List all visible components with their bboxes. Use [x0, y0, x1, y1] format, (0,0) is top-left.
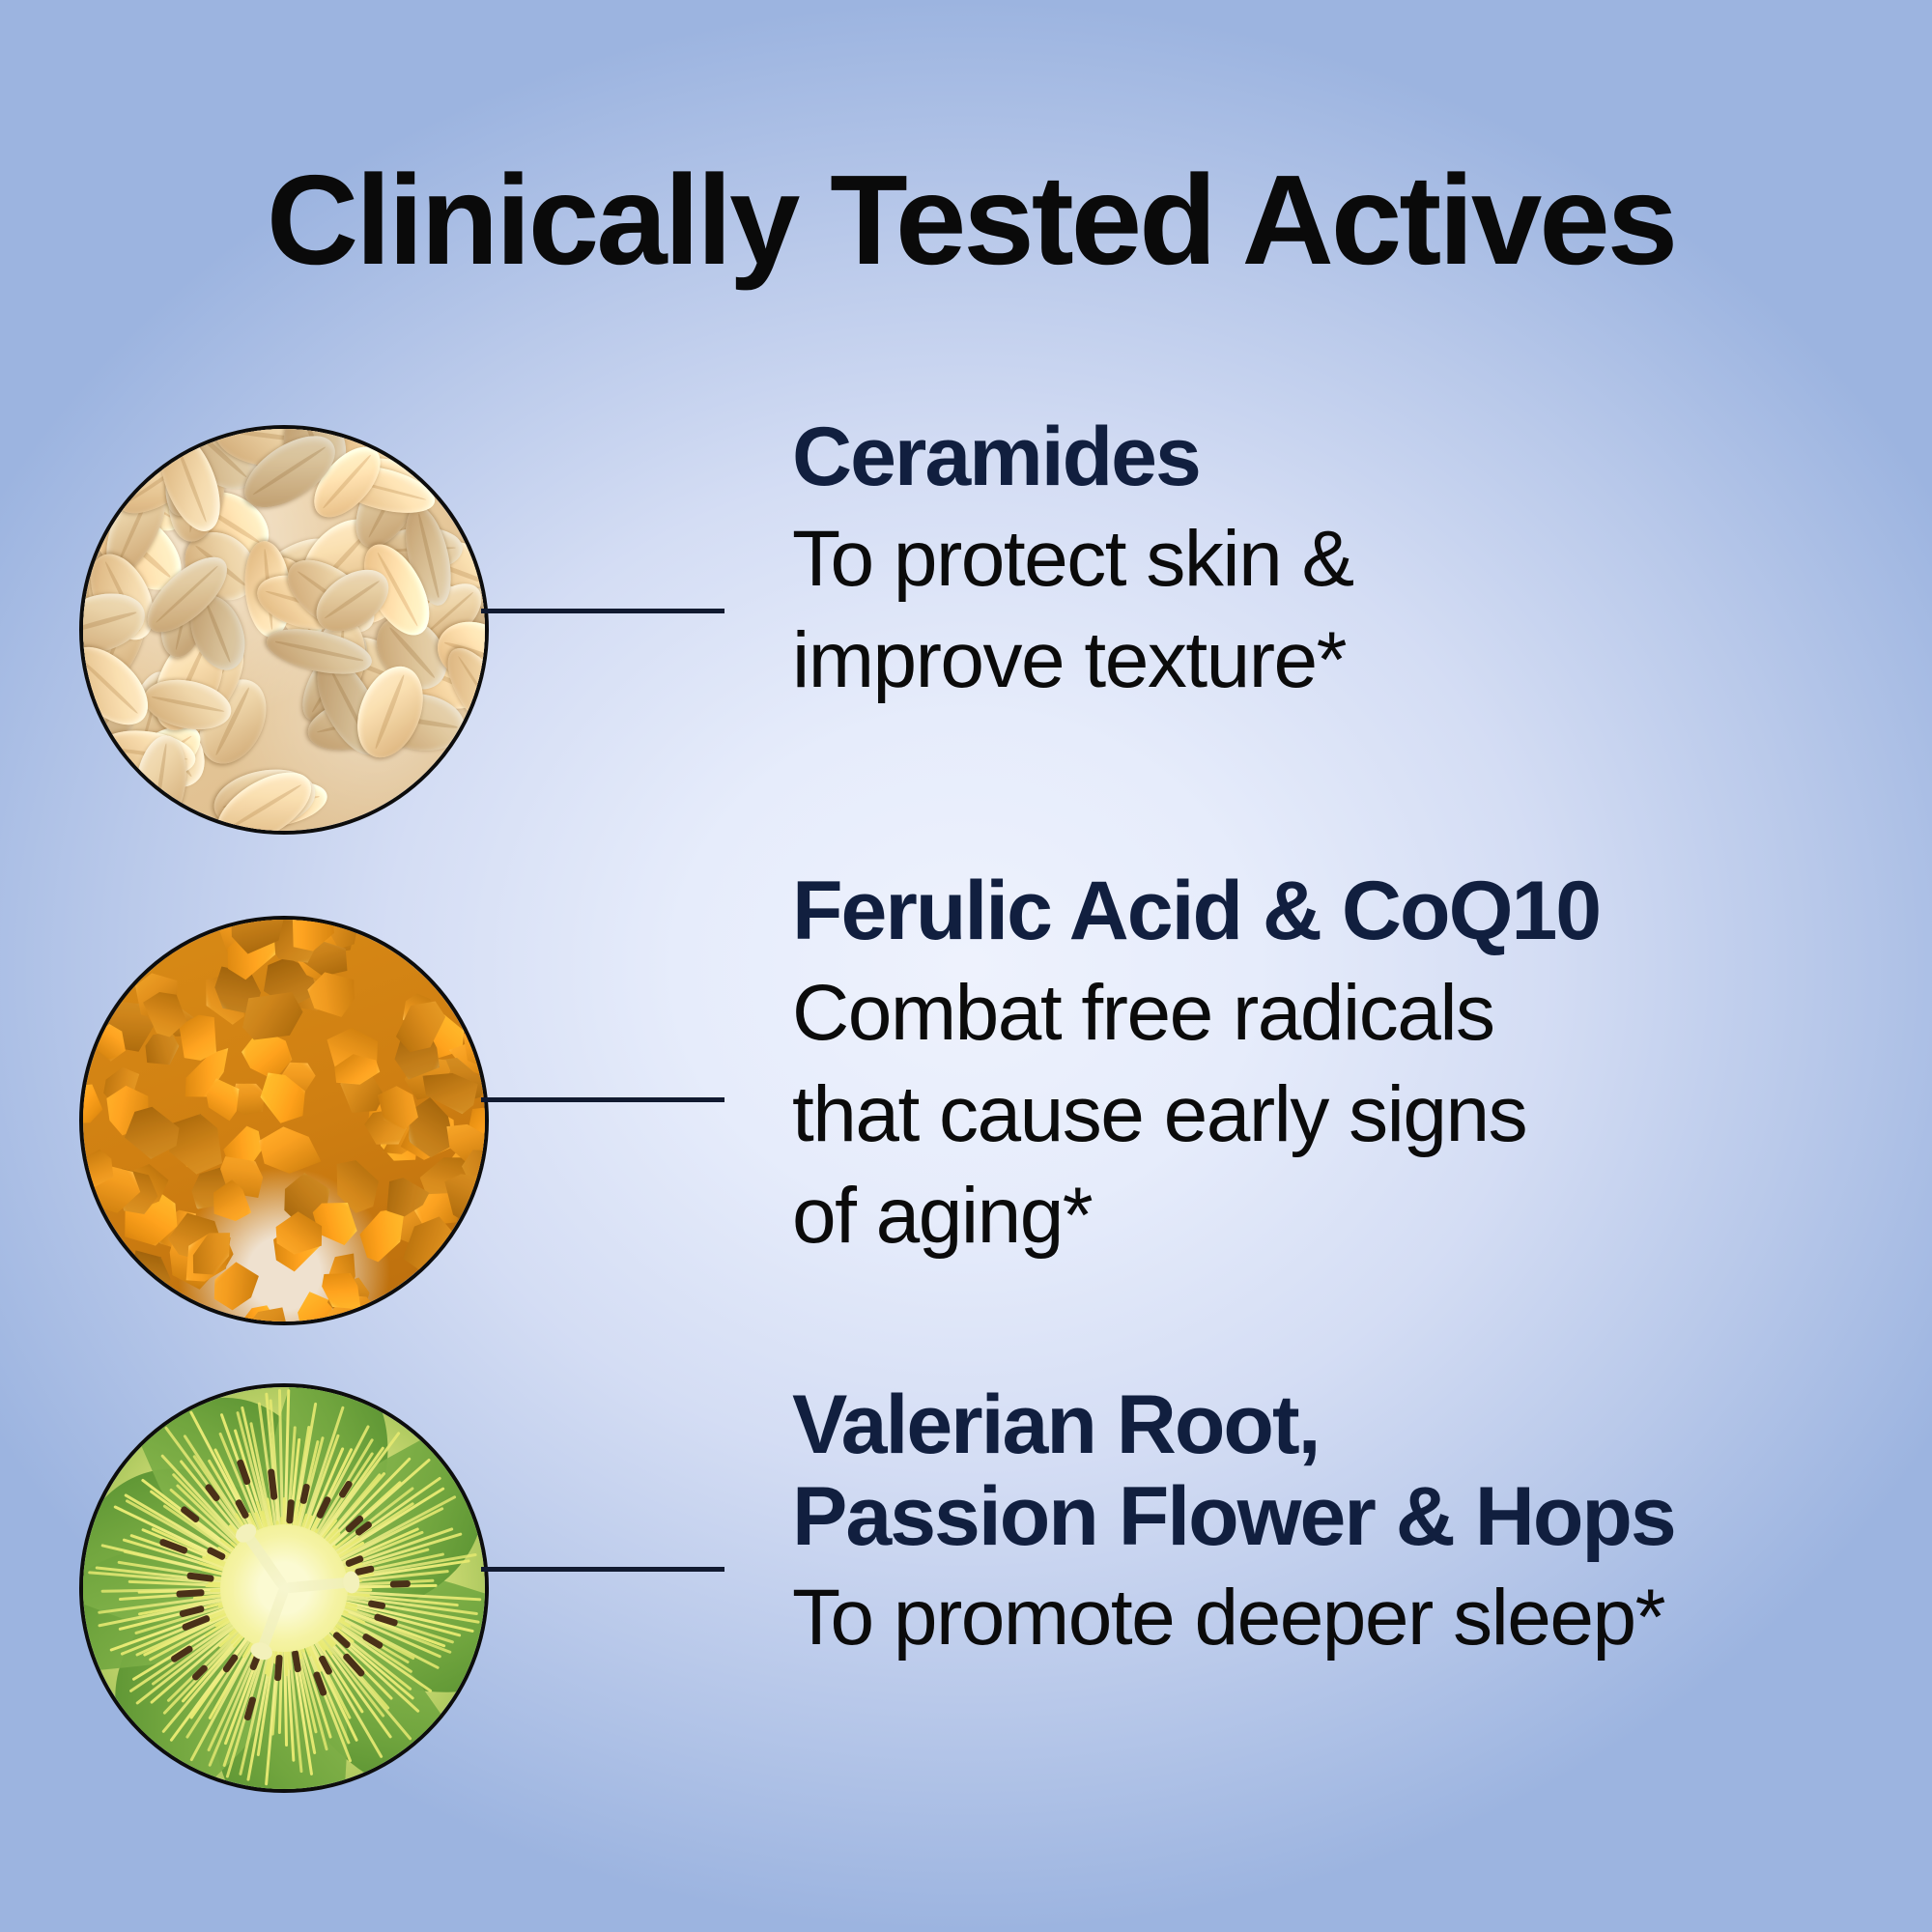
ingredient-heading: Valerian Root, Passion Flower & Hops: [792, 1379, 1913, 1562]
ingredient-image-ferulic-acid-coq10: [79, 916, 489, 1325]
turmeric-chunk: [79, 1078, 108, 1131]
active-ingredient-row: Valerian Root, Passion Flower & Hops To …: [0, 1383, 1932, 1799]
active-ingredient-row: Ferulic Acid & CoQ10 Combat free radical…: [0, 916, 1932, 1331]
connector-line: [481, 609, 724, 613]
ingredient-heading: Ceramides: [792, 412, 1913, 503]
ingredient-image-valerian-passion-hops: [79, 1383, 489, 1793]
flower-anther: [273, 1655, 282, 1682]
ingredient-description: Combat free radicals that cause early si…: [792, 963, 1913, 1267]
page-title: Clinically Tested Actives: [116, 156, 1826, 284]
flower-anther: [286, 1499, 295, 1523]
ingredient-text-valerian-passion-hops: Valerian Root, Passion Flower & Hops To …: [792, 1379, 1913, 1669]
ingredient-text-ceramides: Ceramides To protect skin & improve text…: [792, 412, 1913, 712]
ingredient-image-ceramides: [79, 425, 489, 835]
flower-anther: [389, 1580, 410, 1588]
ingredient-description: To promote deeper sleep*: [792, 1568, 1913, 1669]
turmeric-chunks-photo: [83, 920, 485, 1321]
ingredient-description: To protect skin & improve texture*: [792, 509, 1913, 712]
ingredient-text-ferulic-acid-coq10: Ferulic Acid & CoQ10 Combat free radical…: [792, 866, 1913, 1266]
active-ingredient-row: Ceramides To protect skin & improve text…: [0, 425, 1932, 840]
connector-line: [481, 1567, 724, 1572]
infographic-canvas: Clinically Tested Actives Ceramides To p…: [0, 0, 1932, 1932]
turmeric-chunk: [254, 1120, 330, 1182]
passion-flower-photo: [83, 1387, 485, 1789]
wheat-grain-kernels-photo: [83, 429, 485, 831]
connector-line: [481, 1097, 724, 1102]
ingredient-heading: Ferulic Acid & CoQ10: [792, 866, 1913, 957]
